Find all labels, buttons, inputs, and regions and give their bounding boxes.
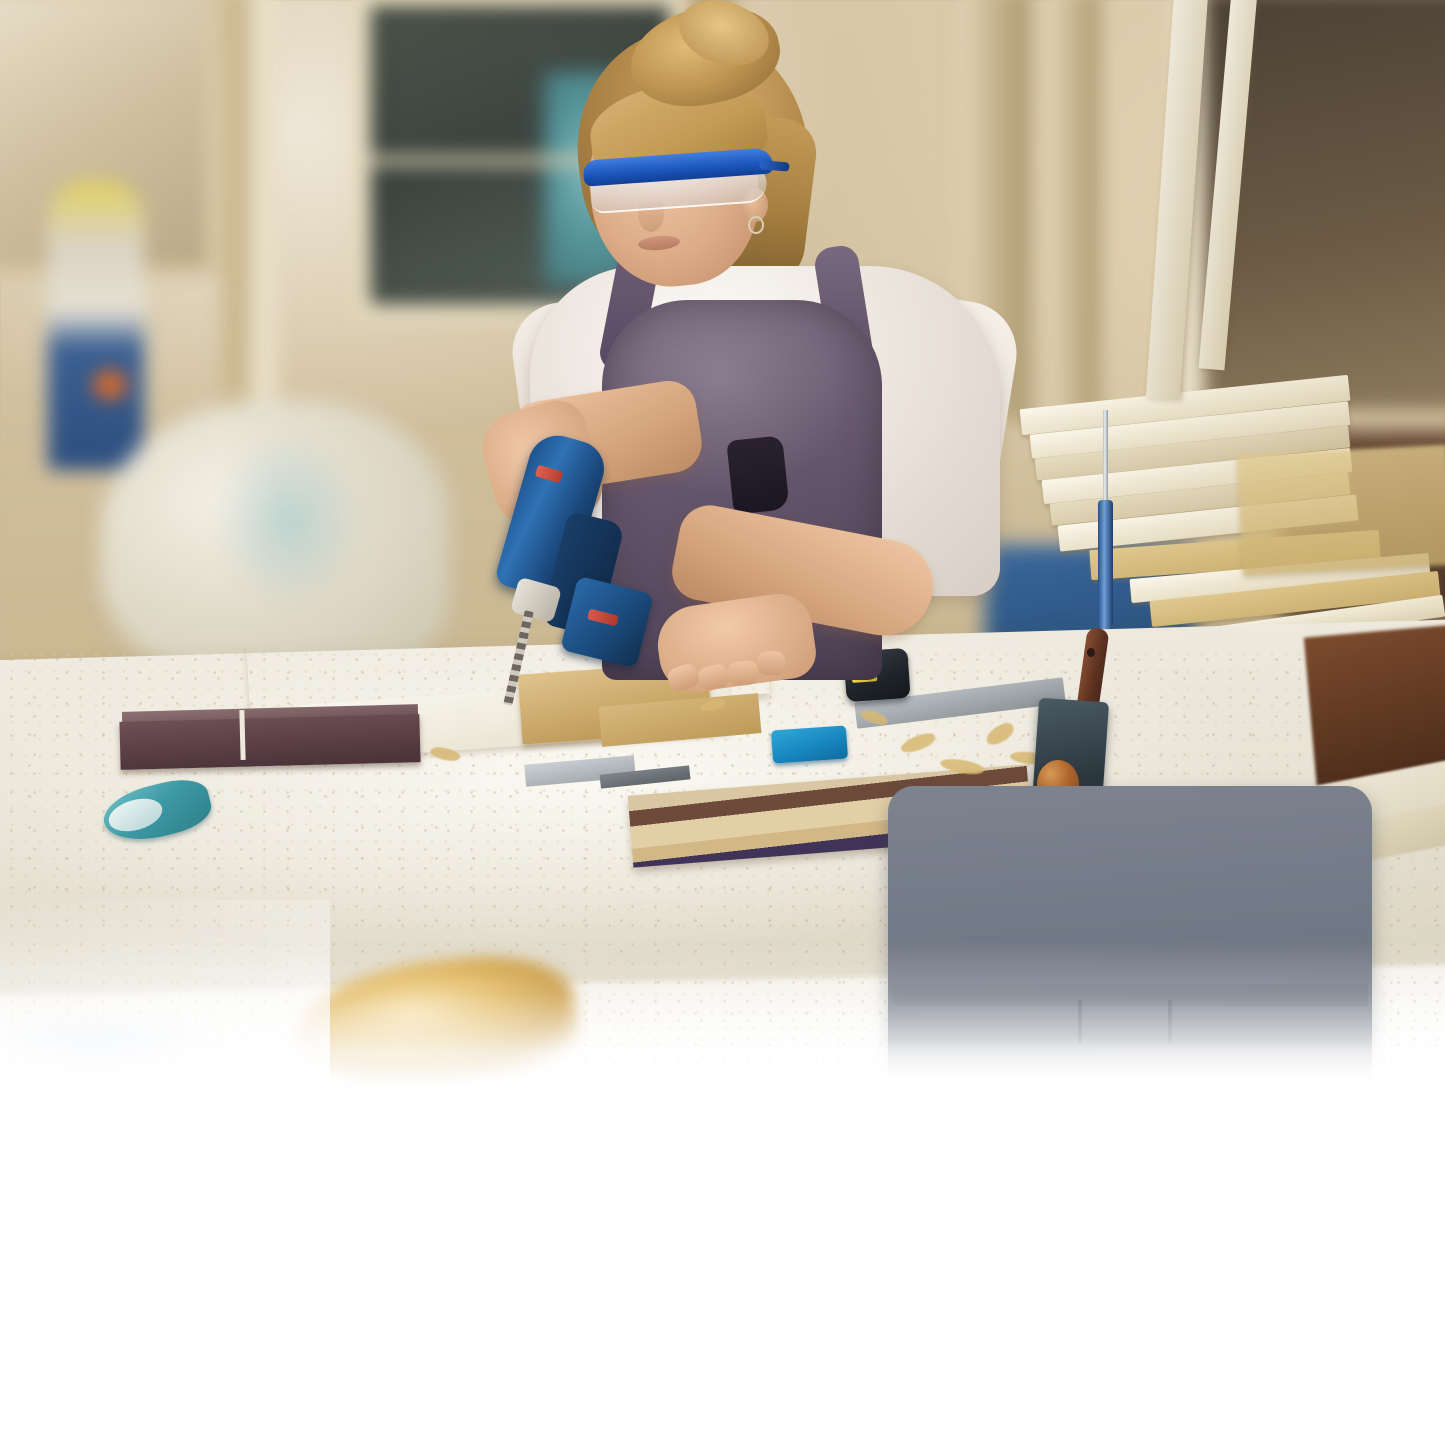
screwdriver-handle bbox=[1098, 500, 1113, 630]
background-sack-tint bbox=[215, 430, 365, 610]
wood-block bbox=[119, 714, 420, 770]
background-figure bbox=[48, 180, 144, 470]
dark-wood-board bbox=[1304, 623, 1445, 787]
apron-pocket bbox=[726, 435, 789, 514]
finger bbox=[757, 651, 785, 675]
earring bbox=[748, 216, 764, 234]
cordless-drill bbox=[496, 432, 696, 672]
finger bbox=[696, 662, 731, 693]
caption-block: Portable suitcase It allows you to store… bbox=[0, 1092, 1445, 1445]
background-beam bbox=[250, 0, 278, 460]
screwdriver-shaft bbox=[1103, 410, 1108, 506]
photo-bottom-fade bbox=[0, 940, 1445, 1092]
finger bbox=[727, 660, 759, 687]
product-lifestyle-photo bbox=[0, 0, 1445, 1092]
background-orange-object bbox=[93, 370, 127, 400]
screwdriver bbox=[1098, 410, 1113, 640]
product-feature-card: Portable suitcase It allows you to store… bbox=[0, 0, 1445, 1445]
